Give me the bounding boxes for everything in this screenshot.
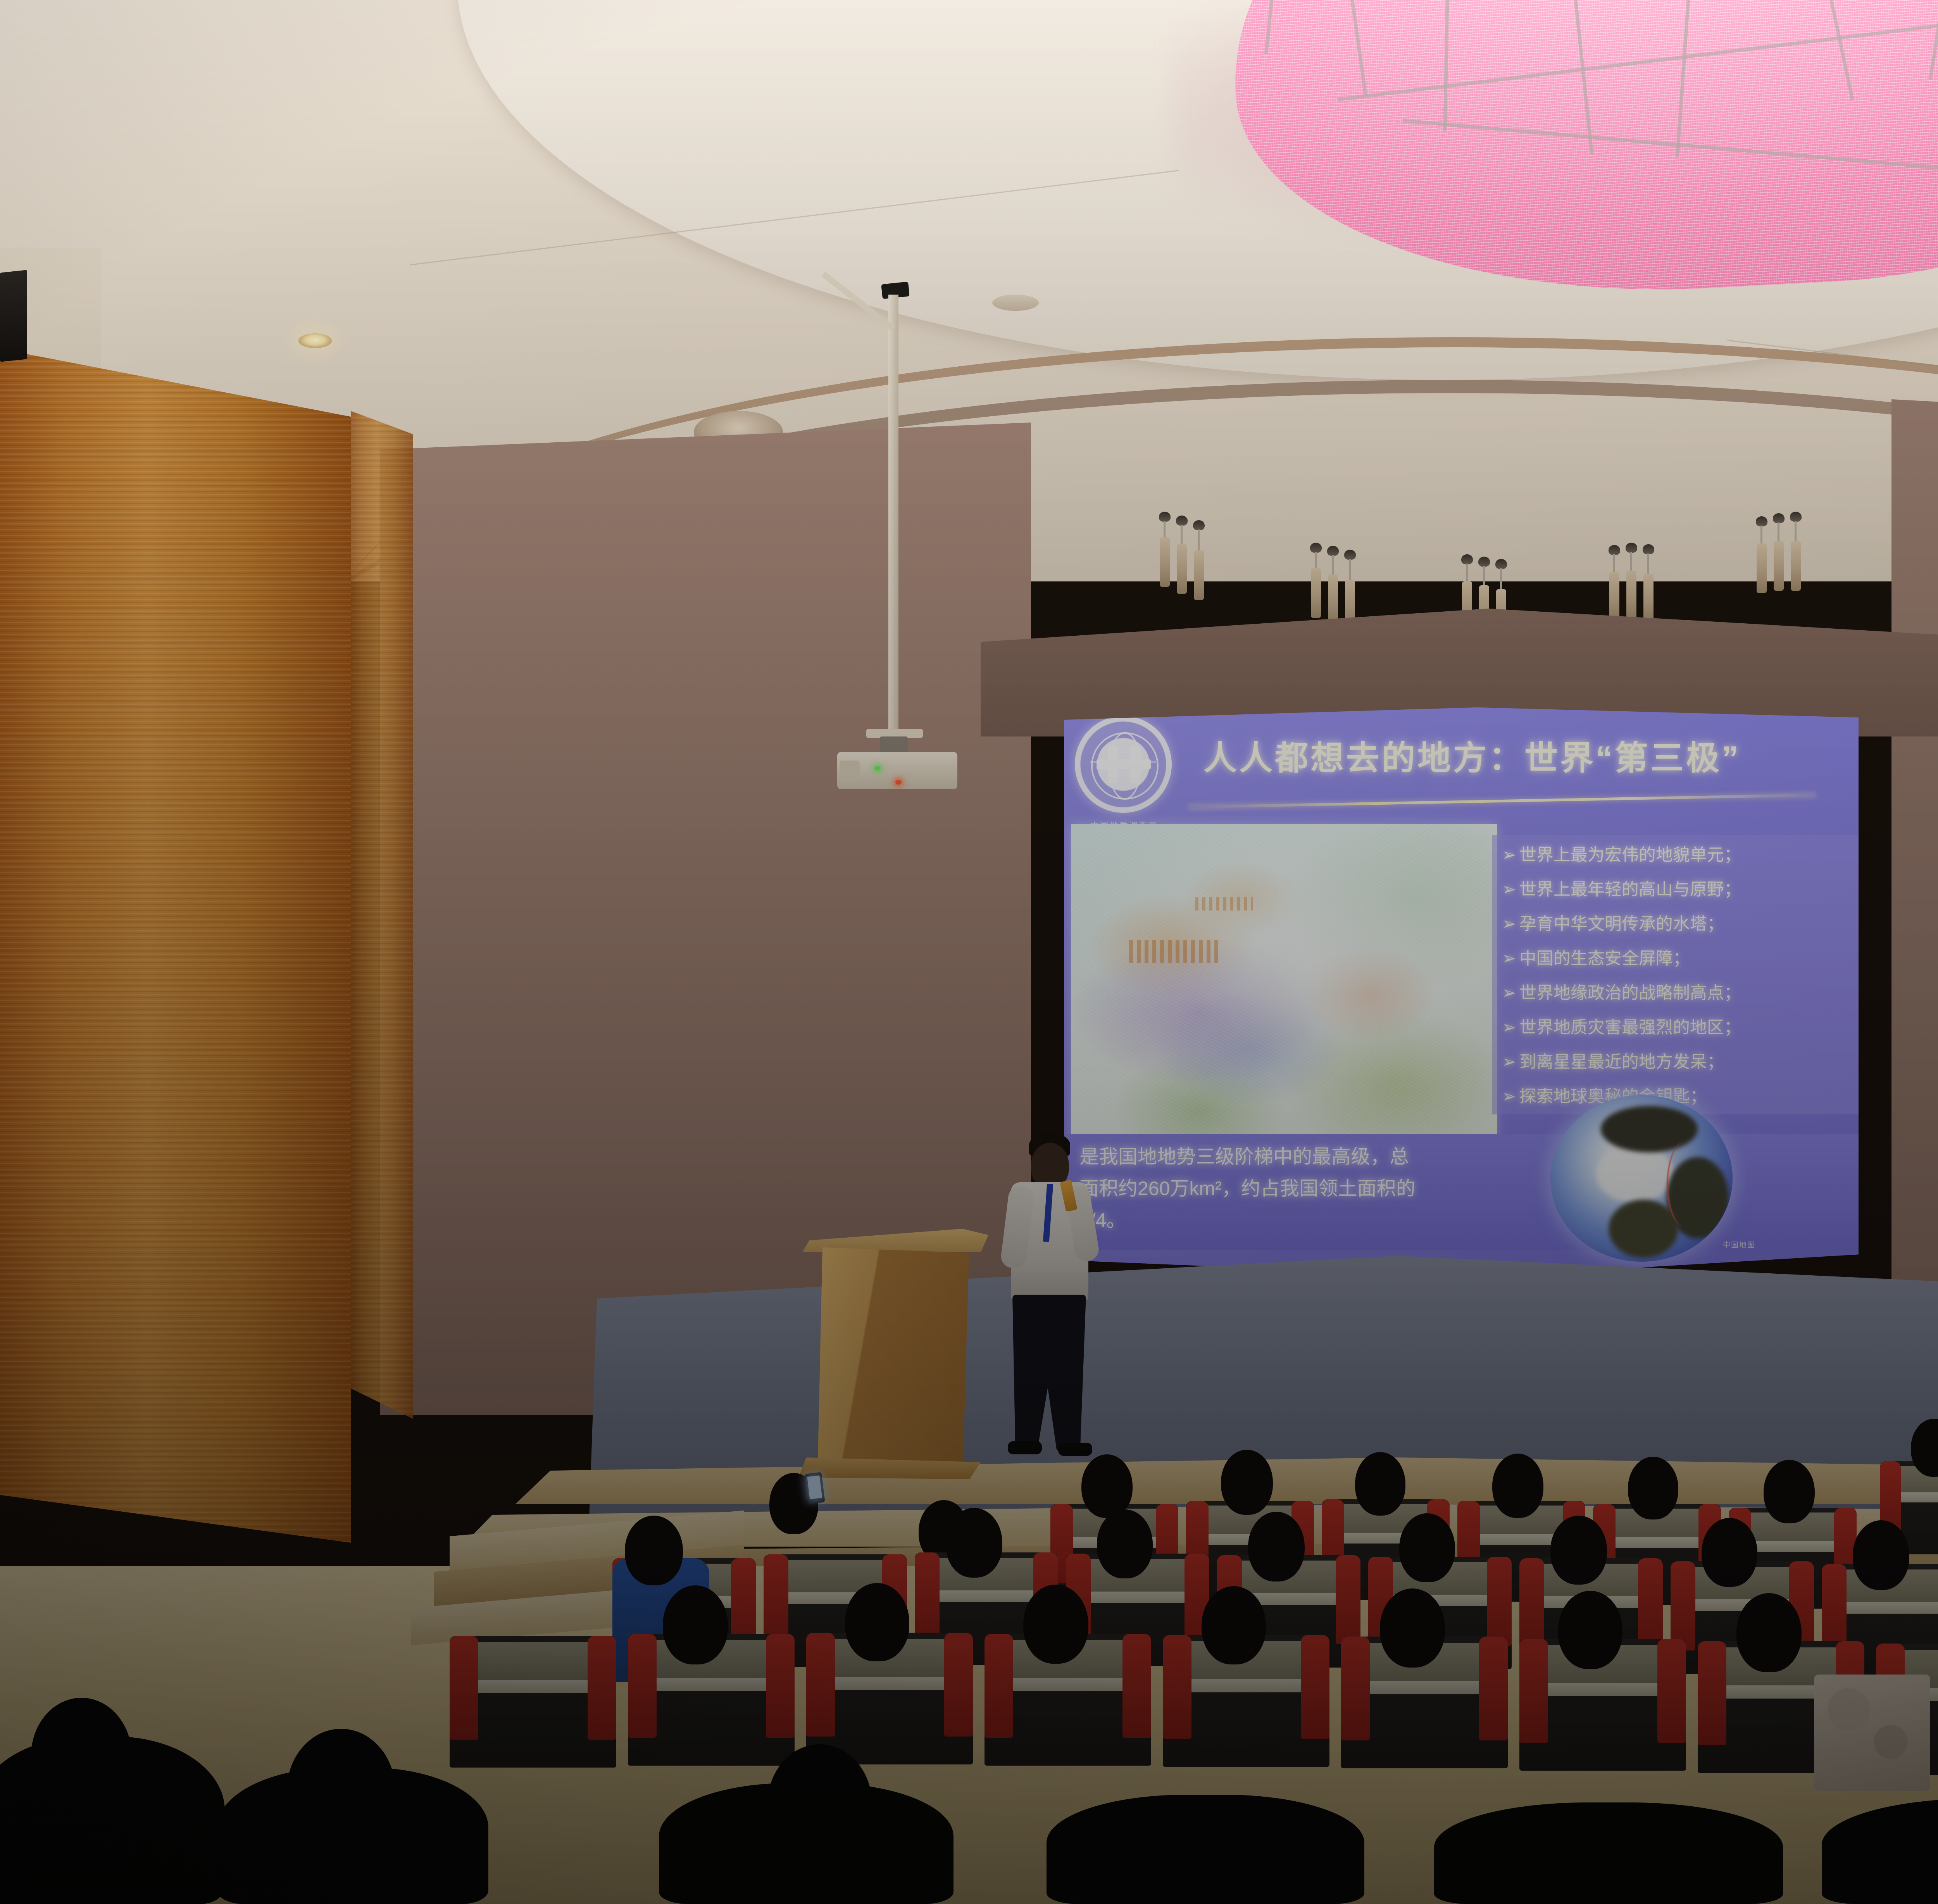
audience-head	[1202, 1586, 1266, 1664]
list-item: ➢世界地缘政治的战略制高点；	[1502, 976, 1859, 1010]
china-geological-survey-logo	[1075, 716, 1172, 813]
presenter-shoe-right	[1058, 1443, 1092, 1456]
list-item: ➢世界上最为宏伟的地貌单元；	[1502, 838, 1859, 872]
audience-head	[946, 1508, 1002, 1578]
audience-head	[1399, 1513, 1455, 1582]
auditorium-scene: 中国地质调查局 人人都想去的地方：世界“第三极” ➢世界上最为宏伟的地貌单元； …	[0, 0, 1938, 1904]
audience-head	[1702, 1518, 1757, 1587]
slide-caption: 是我国地地势三级阶梯中的最高级，总 面积约260万km²，约占我国领土面积的 1…	[1079, 1141, 1568, 1236]
list-item: ➢世界地质灾害最强烈的地区；	[1502, 1010, 1859, 1045]
audience-foreground-silhouette	[1047, 1795, 1364, 1904]
list-item: ➢世界上最年轻的高山与原野；	[1502, 872, 1859, 907]
ceiling-vent	[992, 295, 1039, 311]
audience-head	[1628, 1457, 1678, 1519]
caption-line: 1/4。	[1079, 1204, 1568, 1236]
list-item: ➢到离星星最近的地方发呆；	[1502, 1045, 1859, 1079]
projector-lens-left	[840, 761, 860, 779]
bullet-arrow-icon: ➢	[1502, 845, 1516, 864]
bullet-arrow-icon: ➢	[1502, 880, 1516, 899]
audience-head	[1492, 1454, 1543, 1518]
bullet-arrow-icon: ➢	[1502, 1018, 1516, 1037]
list-item: ➢中国的生态安全屏障；	[1502, 941, 1859, 976]
audience-head	[1221, 1450, 1273, 1515]
wood-wall-left	[0, 349, 351, 1543]
projection-screen: 中国地质调查局 人人都想去的地方：世界“第三极” ➢世界上最为宏伟的地貌单元； …	[1064, 707, 1859, 1277]
bullet-arrow-icon: ➢	[1502, 914, 1516, 933]
audience-head	[1081, 1454, 1133, 1518]
globe-watermark: 中国地图	[1723, 1239, 1755, 1250]
bullet-arrow-icon: ➢	[1502, 949, 1516, 968]
recessed-downlight	[298, 333, 332, 348]
china-map-ceiling-light-panel	[1219, 0, 1938, 312]
seat[interactable]	[450, 1636, 616, 1768]
audience-head	[1558, 1591, 1622, 1669]
bullet-arrow-icon: ➢	[1502, 1052, 1516, 1071]
audience-head	[845, 1583, 909, 1661]
audience-head	[767, 1744, 872, 1864]
audience-head	[1853, 1520, 1909, 1590]
back-wall-right	[1891, 399, 1938, 1368]
pendant-light-group	[1756, 512, 1814, 601]
slide-title: 人人都想去的地方：世界“第三极”	[1203, 731, 1816, 779]
audience-head	[1023, 1585, 1088, 1664]
mobile-phone[interactable]	[804, 1472, 825, 1504]
pendant-light-group	[1159, 512, 1217, 601]
earth-globe-thumbnail	[1550, 1095, 1733, 1262]
wood-wall-left-return	[351, 411, 413, 1419]
audience-head	[1097, 1509, 1153, 1578]
projector-left	[837, 752, 957, 789]
projector-power-led-left	[874, 766, 881, 771]
china-relief-map-image	[1071, 824, 1497, 1165]
audience-head	[1764, 1460, 1815, 1523]
floral-bag	[1814, 1675, 1930, 1791]
audience-head	[625, 1516, 683, 1585]
caption-line: 是我国地地势三级阶梯中的最高级，总	[1079, 1141, 1568, 1173]
audience-head	[287, 1729, 395, 1853]
audience-head	[1355, 1452, 1405, 1516]
bullet-arrow-icon: ➢	[1502, 983, 1516, 1002]
caption-line: 面积约260万km²，约占我国领土面积的	[1079, 1173, 1568, 1204]
lectern-body[interactable]	[818, 1247, 969, 1468]
audience-head	[1380, 1588, 1445, 1668]
map-label-basin	[1195, 897, 1253, 911]
presenter-shoe-left	[1008, 1441, 1042, 1454]
bullet-arrow-icon: ➢	[1502, 1087, 1516, 1106]
projector-lamp-led-left	[895, 780, 902, 785]
audience-head	[1736, 1593, 1802, 1672]
audience-head	[1550, 1516, 1607, 1585]
wall-speaker-left	[0, 270, 27, 362]
list-item: ➢孕育中华文明传承的水塔；	[1502, 907, 1859, 941]
projector-pole-left	[888, 295, 898, 729]
audience-head	[663, 1585, 728, 1664]
slide-bullet-list: ➢世界上最为宏伟的地貌单元； ➢世界上最年轻的高山与原野； ➢孕育中华文明传承的…	[1502, 838, 1859, 1114]
audience-head	[1248, 1512, 1305, 1581]
audience-foreground-silhouette	[1434, 1802, 1783, 1904]
map-label-plateau	[1129, 940, 1218, 963]
audience-head	[31, 1698, 132, 1814]
